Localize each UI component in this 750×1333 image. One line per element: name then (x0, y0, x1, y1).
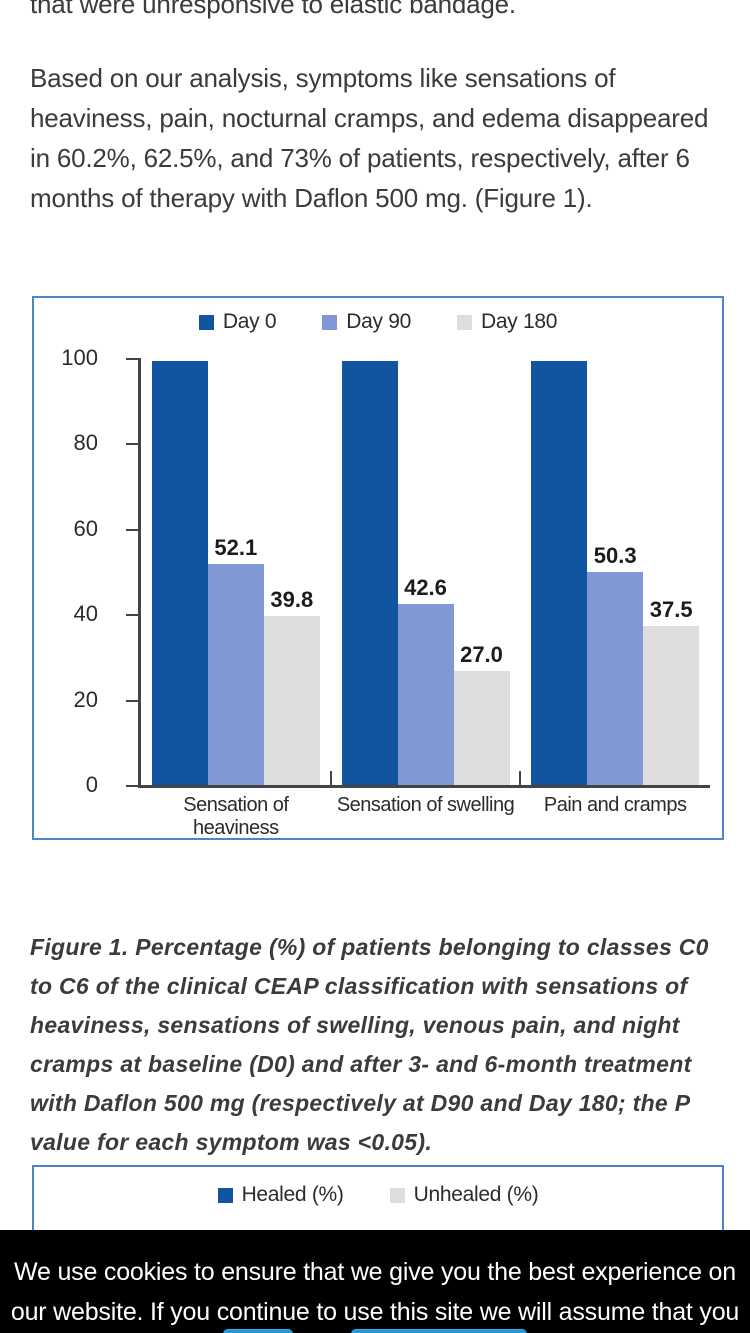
legend-swatch-icon-unhealed (390, 1188, 405, 1203)
legend-item-unhealed: Unhealed (%) (390, 1183, 539, 1207)
bar-value-label: 42.6 (404, 575, 447, 601)
legend-label-day-90: Day 90 (346, 310, 411, 334)
figure1-caption: Figure 1. Percentage (%) of patients bel… (30, 928, 730, 1162)
bar-day-90: 52.1 (208, 564, 264, 785)
y-tick-label: 60 (74, 516, 98, 542)
legend-item-healed: Healed (%) (218, 1183, 344, 1207)
y-tick-mark (126, 614, 140, 616)
x-axis-line (138, 785, 710, 788)
bar-day-0 (342, 361, 398, 785)
chart-plot-area: % patients without symptom 020406080100 … (106, 358, 710, 788)
bar-day-0 (152, 361, 208, 785)
legend-label-unhealed: Unhealed (%) (414, 1183, 539, 1207)
x-axis-label: Pain and cramps (520, 794, 710, 840)
bar-day-90: 42.6 (398, 604, 454, 785)
chart-bars: 52.139.842.627.050.337.5 (141, 358, 710, 785)
bar-value-label: 52.1 (214, 535, 257, 561)
bar-value-label: 39.8 (270, 587, 313, 613)
legend-item-day-180: Day 180 (457, 310, 557, 334)
article-clipped-line: that were unresponsive to elastic bandag… (30, 0, 720, 24)
y-tick-mark (126, 443, 140, 445)
article-paragraph: Based on our analysis, symptoms like sen… (30, 58, 720, 218)
y-tick-label: 80 (74, 430, 98, 456)
bar-day-180: 27.0 (454, 671, 510, 785)
legend-label-day-180: Day 180 (481, 310, 557, 334)
y-tick-label: 40 (74, 601, 98, 627)
bar-day-180: 37.5 (643, 626, 699, 785)
figure2-legend: Healed (%) Unhealed (%) (34, 1183, 722, 1207)
x-axis-label: Sensation of swelling (331, 794, 521, 840)
figure1-container: Day 0 Day 90 Day 180 % patients without … (32, 296, 724, 840)
y-tick-mark (126, 529, 140, 531)
chart-legend: Day 0 Day 90 Day 180 (34, 310, 722, 334)
cookie-privacy-policy-button[interactable]: Privacy policy (351, 1329, 527, 1333)
bar-group: 50.337.5 (520, 358, 710, 785)
legend-swatch-icon-healed (218, 1188, 233, 1203)
bar-value-label: 27.0 (460, 642, 503, 668)
cookie-message: We use cookies to ensure that we give yo… (0, 1252, 750, 1333)
y-tick-label: 0 (86, 772, 98, 798)
bar-value-label: 50.3 (594, 543, 637, 569)
y-tick-label: 100 (61, 345, 98, 371)
bar-value-label: 37.5 (650, 597, 693, 623)
legend-item-day-0: Day 0 (199, 310, 276, 334)
bar-day-90: 50.3 (587, 572, 643, 785)
legend-item-day-90: Day 90 (322, 310, 411, 334)
legend-swatch-icon-day-90 (322, 315, 337, 330)
legend-label-day-0: Day 0 (223, 310, 276, 334)
cookie-consent-banner: We use cookies to ensure that we give yo… (0, 1230, 750, 1333)
legend-swatch-icon-day-180 (457, 315, 472, 330)
page-root: that were unresponsive to elastic bandag… (0, 0, 750, 1333)
bar-group: 52.139.8 (141, 358, 331, 785)
cookie-button-row: Ok Privacy policy (0, 1329, 750, 1333)
legend-swatch-icon-day-0 (199, 315, 214, 330)
y-tick-mark (126, 358, 140, 360)
bar-group: 42.627.0 (331, 358, 521, 785)
bar-day-0 (531, 361, 587, 785)
y-tick-mark (126, 785, 140, 787)
y-tick-label: 20 (74, 687, 98, 713)
y-tick-mark (126, 700, 140, 702)
x-axis-labels: Sensation of heavinessSensation of swell… (141, 794, 710, 840)
x-axis-label: Sensation of heaviness (141, 794, 331, 840)
cookie-accept-button[interactable]: Ok (223, 1329, 293, 1333)
bar-day-180: 39.8 (264, 616, 320, 785)
legend-label-healed: Healed (%) (242, 1183, 344, 1207)
